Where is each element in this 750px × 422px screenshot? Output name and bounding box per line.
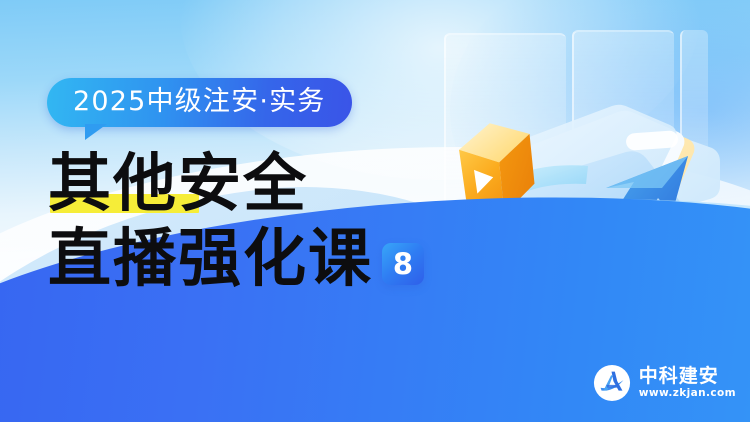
tag-label: 2025中级注安·实务 — [73, 87, 326, 116]
logo-text-block: 中科建安 www.zkjan.com — [639, 367, 736, 399]
brand-name: 中科建安 — [639, 367, 736, 386]
headline-line-2: 直播强化课 8 — [48, 227, 424, 290]
folder-tab-slot — [626, 130, 679, 151]
tag-pill: 2025中级注安·实务 — [47, 78, 352, 127]
brand-website: www.zkjan.com — [639, 388, 736, 399]
tag-pill-tail — [85, 124, 107, 140]
headline-text-2: 直播强化课 — [48, 227, 373, 290]
headline-text-1: 其他安全 — [48, 146, 308, 220]
episode-number: 8 — [393, 250, 413, 279]
banner-headline: 其他安全 直播强化课 8 — [48, 152, 424, 290]
zkjan-emblem-icon — [593, 364, 631, 402]
headline-line-1: 其他安全 — [48, 152, 424, 215]
course-tag: 2025中级注安·实务 — [47, 78, 352, 127]
brand-logo[interactable]: 中科建安 www.zkjan.com — [593, 364, 736, 402]
episode-badge: 8 — [382, 243, 424, 285]
course-banner: 2025中级注安·实务 其他安全 直播强化课 8 中科建安 — [0, 0, 750, 422]
